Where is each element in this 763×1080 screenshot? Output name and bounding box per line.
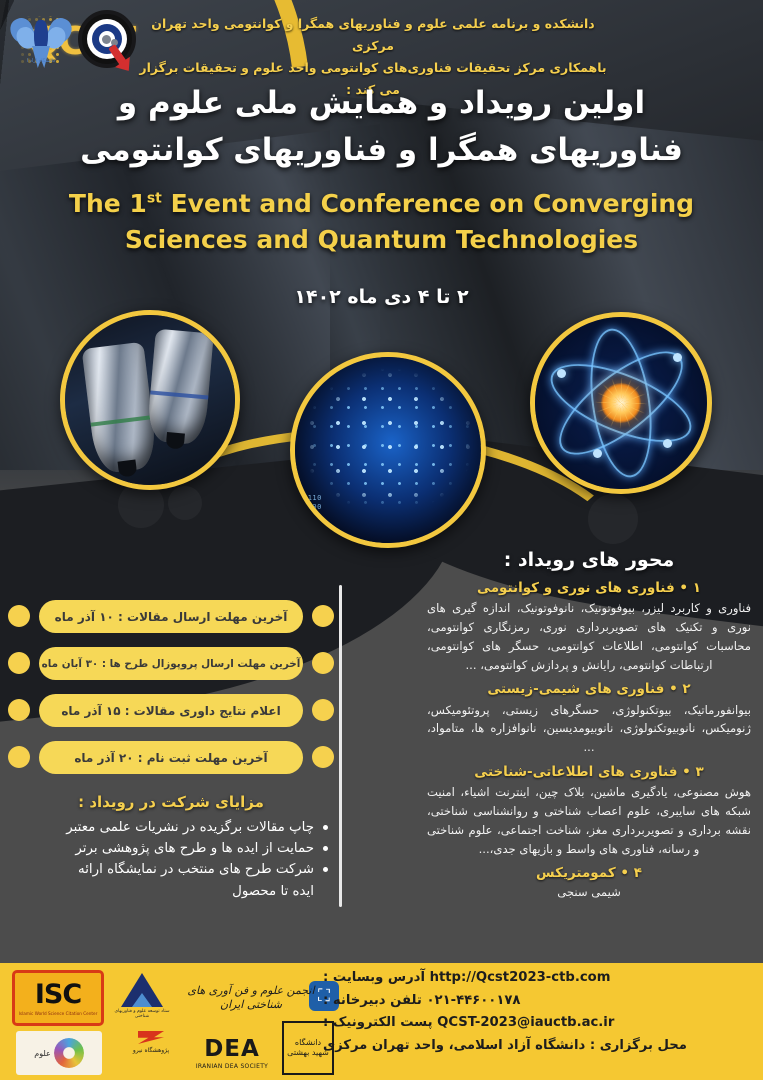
- deadline-row: اعلام نتایج داوری مقالات : ۱۵ آذر ماه: [6, 687, 336, 734]
- electron-dot: [673, 353, 682, 362]
- topic-number: ۲ •: [669, 681, 691, 697]
- persian-title: اولین رویداد و همایش ملی علوم و فناوریها…: [0, 80, 763, 174]
- circuit-brain-photo: 0110 0100 1001 1001: [290, 352, 486, 548]
- english-title: The 1st Event and Conference on Convergi…: [0, 186, 763, 259]
- dea-logo-text: DEA: [204, 1038, 260, 1061]
- topic-title-text: فناوری های اطلاعاتی-شناختی: [474, 764, 677, 780]
- benefits-heading: مزایای شرکت در رویداد :: [6, 793, 336, 811]
- benefit-item: شرکت طرح های منتخب در نمایشگاه ارائه: [6, 859, 336, 880]
- deadline-pill: آخرین مهلت ارسال مقالات : ۱۰ آذر ماه: [39, 600, 303, 633]
- topic-item: ۴ • کمومتریکس شیمی سنجی: [423, 863, 755, 901]
- contact-info: http://Qcst2023-ctb.com آدرس وبسایت : ۰۲…: [323, 967, 755, 1058]
- gear-icon: [102, 35, 111, 44]
- lightning-bolt-icon: [138, 1031, 164, 1044]
- cognitive-center-script: علوم: [34, 1049, 51, 1058]
- lens-band: [91, 415, 153, 427]
- objective-lens-2: [146, 329, 214, 446]
- bullet-point-icon: [323, 846, 328, 851]
- bullet-dot-icon: [8, 605, 30, 627]
- atom-photo: [530, 312, 712, 494]
- poster-footer: ⛶ http://Qcst2023-ctb.com آدرس وبسایت : …: [0, 963, 763, 1080]
- benefits-section: مزایای شرکت در رویداد : چاپ مقالات برگزی…: [6, 793, 336, 902]
- electron-dot: [593, 449, 602, 458]
- bullet-point-icon: [323, 867, 328, 872]
- bullet-dot-icon: [8, 652, 30, 674]
- phone-number: ۰۲۱-۴۴۶۰۰۱۷۸: [426, 990, 520, 1013]
- phone-label: تلفن دبیرخانه :: [323, 993, 422, 1008]
- benefit-text: شرکت طرح های منتخب در نمایشگاه ارائه: [78, 862, 314, 877]
- topic-number: ۳ •: [682, 764, 704, 780]
- organizer-line-1: دانشکده و برنامه علمی علوم و فناوریهای ه…: [133, 13, 613, 57]
- cognitive-society-name: انجمن علوم و فن آوری های شناختی ایران: [176, 981, 326, 1015]
- bullet-point-icon: [323, 825, 328, 830]
- english-title-line-2: Sciences and Quantum Technologies: [0, 222, 763, 258]
- conference-poster: QCST دانشکده و برنامه علمی علوم و فناوری…: [0, 0, 763, 1080]
- topic-item: ۳ • فناوری های اطلاعاتی-شناختی هوش مصنوع…: [423, 762, 755, 858]
- microscope-photo: [60, 310, 240, 490]
- azad-logo-caption: دانشگاه آزاد اسلامی: [27, 58, 55, 67]
- electron-dot: [557, 369, 566, 378]
- website-url[interactable]: http://Qcst2023-ctb.com: [430, 967, 611, 990]
- shahid-beheshti-logo: دانشگاه شهید بهشتی: [282, 1021, 334, 1075]
- topic-item: ۲ • فناوری های شیمی-زیستی بیوانفورماتیک،…: [423, 679, 755, 757]
- benefit-continuation: ایده تا محصول: [6, 881, 336, 902]
- contact-line: QCST-2023@iauctb.ac.ir پست الکترونیک :: [323, 1012, 755, 1035]
- event-date: ۲ تا ۴ دی ماه ۱۴۰۲: [0, 286, 763, 308]
- deadline-pill: اعلام نتایج داوری مقالات : ۱۵ آذر ماه: [39, 694, 303, 727]
- topic-body: فناوری و کاربرد لیزر، بیوفوتونیک، نانوفو…: [423, 598, 755, 674]
- topic-number: ۱ •: [679, 580, 701, 596]
- topic-number: ۴ •: [620, 865, 642, 881]
- poster-content: محور های رویداد : ۱ • فناوری های نوری و …: [0, 545, 763, 960]
- isc-logo: ISC Islamic World Science Citation Cente…: [12, 970, 104, 1026]
- qcst-circular-logo-icon: [78, 10, 136, 68]
- topic-title-text: فناوری های شیمی-زیستی: [487, 681, 664, 697]
- dea-logo-subtitle: IRANIAN DEA SOCIETY: [196, 1063, 268, 1070]
- electron-dot: [663, 439, 672, 448]
- isc-logo-text: ISC: [35, 981, 81, 1008]
- venue-label: محل برگزاری : دانشگاه آزاد اسلامی، واحد …: [323, 1038, 687, 1053]
- contact-line: http://Qcst2023-ctb.com آدرس وبسایت :: [323, 967, 755, 990]
- azad-university-logo-icon: دانشگاه آزاد اسلامی: [10, 6, 72, 72]
- poster-header: QCST دانشکده و برنامه علمی علوم و فناوری…: [0, 0, 763, 78]
- triangle-icon: [121, 973, 163, 1007]
- bullet-dot-icon: [312, 605, 334, 627]
- atom-photo-inner: [535, 317, 707, 489]
- color-wheel-icon: [54, 1038, 84, 1068]
- niroo-caption: پژوهشگاه نیرو: [133, 1047, 169, 1054]
- contact-line: ۰۲۱-۴۴۶۰۰۱۷۸ تلفن دبیرخانه :: [323, 990, 755, 1013]
- cognitive-hq-logo: ستاد توسعه علوم و فناوریهای شناختی: [112, 969, 172, 1029]
- circuit-nodes: [295, 357, 481, 543]
- deadline-row: آخرین مهلت ارسال پروپوزال طرح ها : ۳۰ آب…: [6, 640, 336, 687]
- dea-society-logo: DEA IRANIAN DEA SOCIETY: [186, 1033, 278, 1075]
- lens-tip: [118, 460, 138, 478]
- cognitive-center-logo: علوم: [16, 1031, 102, 1075]
- topics-heading: محور های رویداد :: [423, 549, 755, 571]
- email-address[interactable]: QCST-2023@iauctb.ac.ir: [437, 1012, 614, 1035]
- niroo-research-logo: پژوهشگاه نیرو: [120, 1031, 182, 1077]
- bullet-dot-icon: [312, 699, 334, 721]
- benefit-text: چاپ مقالات برگزیده در نشریات علمی معتبر: [66, 820, 314, 835]
- bullet-dot-icon: [312, 746, 334, 768]
- bullet-dot-icon: [8, 746, 30, 768]
- website-label: آدرس وبسایت :: [323, 970, 425, 985]
- benefit-text: حمایت از ایده ها و طرح های پژوهشی برتر: [75, 841, 314, 856]
- deadline-pill: آخرین مهلت ثبت نام : ۲۰ آذر ماه: [39, 741, 303, 774]
- topic-title: ۴ • کمومتریکس: [423, 863, 755, 883]
- deadline-pill: آخرین مهلت ارسال پروپوزال طرح ها : ۳۰ آب…: [39, 647, 303, 680]
- benefit-item: حمایت از ایده ها و طرح های پژوهشی برتر: [6, 838, 336, 859]
- english-title-line-1: The 1st Event and Conference on Convergi…: [0, 186, 763, 222]
- english-title-rest: Event and Conference on Converging: [171, 189, 695, 218]
- benefit-item: چاپ مقالات برگزیده در نشریات علمی معتبر: [6, 817, 336, 838]
- lens-band: [150, 390, 208, 399]
- brain-photo-inner: 0110 0100 1001 1001: [295, 357, 481, 543]
- topic-title-text: فناوری های نوری و کوانتومی: [477, 580, 675, 596]
- binary-digits: 0110 0100 1001 1001: [303, 494, 322, 529]
- topic-title-text: کمومتریکس: [536, 865, 616, 881]
- topics-section: محور های رویداد : ۱ • فناوری های نوری و …: [423, 549, 755, 906]
- ordinal-suffix: st: [147, 191, 162, 207]
- isc-logo-subtitle: Islamic World Science Citation Center: [19, 1011, 98, 1016]
- sponsor-logos: ISC Islamic World Science Citation Cente…: [0, 963, 330, 1080]
- microscope-photo-inner: [65, 315, 235, 485]
- topic-title: ۲ • فناوری های شیمی-زیستی: [423, 679, 755, 699]
- deadline-row: آخرین مهلت ارسال مقالات : ۱۰ آذر ماه: [6, 593, 336, 640]
- lens-tip: [166, 432, 185, 450]
- topic-title: ۱ • فناوری های نوری و کوانتومی: [423, 578, 755, 598]
- contact-line: محل برگزاری : دانشگاه آزاد اسلامی، واحد …: [323, 1035, 755, 1058]
- bullet-dot-icon: [8, 699, 30, 721]
- cognitive-hq-caption: ستاد توسعه علوم و فناوریهای شناختی: [112, 1009, 172, 1019]
- persian-title-line-2: فناوریهای همگرا و فناوریهای کوانتومی: [0, 127, 763, 174]
- deadline-row: آخرین مهلت ثبت نام : ۲۰ آذر ماه: [6, 734, 336, 781]
- bullet-dot-icon: [312, 652, 334, 674]
- english-title-prefix: The 1: [69, 189, 147, 218]
- column-divider: [339, 585, 342, 907]
- objective-lens-1: [82, 342, 159, 475]
- email-label: پست الکترونیک :: [323, 1015, 433, 1030]
- persian-title-line-1: اولین رویداد و همایش ملی علوم و: [0, 80, 763, 127]
- atom-nucleus: [601, 383, 641, 423]
- topic-body: بیوانفورماتیک، بیوتکنولوژی، حسگرهای زیست…: [423, 700, 755, 757]
- topic-title: ۳ • فناوری های اطلاعاتی-شناختی: [423, 762, 755, 782]
- topic-body: شیمی سنجی: [423, 884, 755, 901]
- topic-body: هوش مصنوعی، یادگیری ماشین، بلاک چین، این…: [423, 782, 755, 858]
- deadlines-section: آخرین مهلت ارسال مقالات : ۱۰ آذر ماه آخر…: [6, 593, 336, 781]
- topic-item: ۱ • فناوری های نوری و کوانتومی فناوری و …: [423, 578, 755, 674]
